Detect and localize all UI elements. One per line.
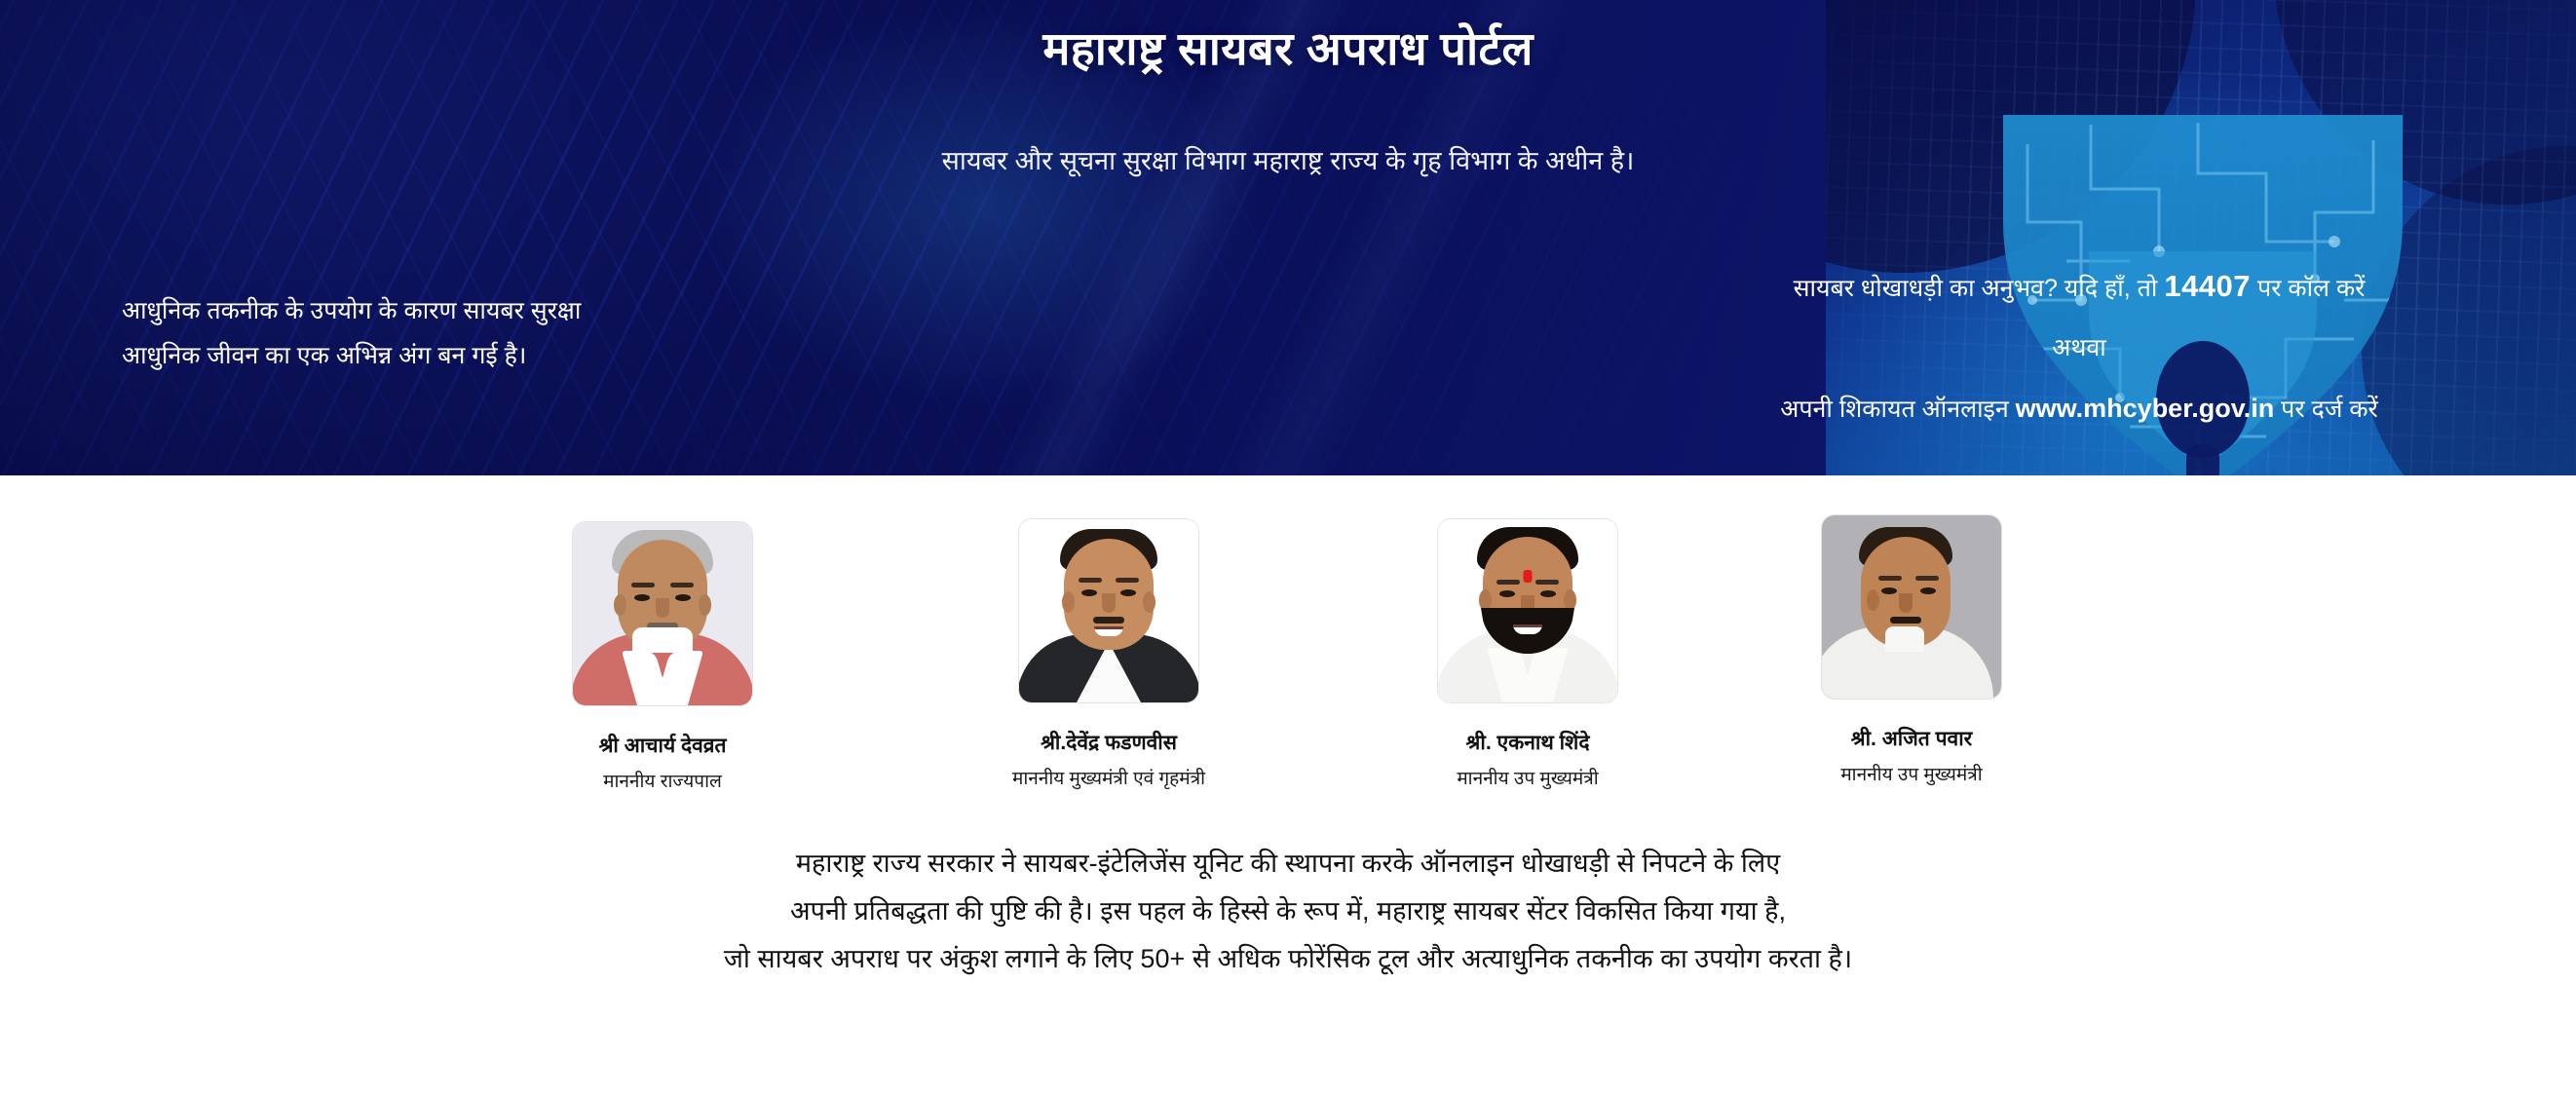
leader-card: श्री. एकनाथ शिंदे माननीय उप मुख्यमंत्री [1372,518,1684,790]
leader-photo [1821,514,2002,700]
leader-card: श्री आचार्य देवव्रत माननीय राज्यपाल [507,521,818,793]
leader-role: माननीय मुख्यमंत्री एवं गृहमंत्री [953,765,1265,790]
hero-subtitle: सायबर और सूचना सुरक्षा विभाग महाराष्ट्र … [0,141,2576,177]
hero-left-line-1: आधुनिक तकनीक के उपयोग के कारण सायबर सुरक… [122,288,862,333]
helpline-suffix: पर कॉल करें [2257,275,2365,302]
page-title: महाराष्ट्र सायबर अपराध पोर्टल [0,16,2576,78]
complaint-suffix: पर दर्ज करें [2281,396,2378,423]
leader-name: श्री. अजित पवार [1756,725,2067,752]
complaint-prefix: अपनी शिकायत ऑनलाइन [1780,396,2008,423]
about-line-1: महाराष्ट्र राज्य सरकार ने सायबर-इंटेलिजे… [0,840,2576,888]
helpline-row: सायबर धोखाधड़ी का अनुभव? यदि हाँ, तो 144… [1621,271,2537,301]
hero-helpline-block: सायबर धोखाधड़ी का अनुभव? यदि हाँ, तो 144… [1621,271,2537,422]
leaders-section: श्री आचार्य देवव्रत माननीय राज्यपाल [0,475,2576,807]
about-line-2: अपनी प्रतिबद्धता की पुष्टि की है। इस पहल… [0,888,2576,935]
leader-card: श्री. अजित पवार माननीय उप मुख्यमंत्री [1756,514,2067,786]
helpline-prefix: सायबर धोखाधड़ी का अनुभव? यदि हाँ, तो [1794,275,2158,302]
about-paragraph: महाराष्ट्र राज्य सरकार ने सायबर-इंटेलिजे… [0,840,2576,983]
page-root: महाराष्ट्र सायबर अपराध पोर्टल सायबर और स… [0,0,2576,1097]
hero-left-line-2: आधुनिक जीवन का एक अभिन्न अंग बन गई है। [122,333,862,378]
leader-photo [1018,518,1199,703]
leader-card: श्री.देवेंद्र फडणवीस माननीय मुख्यमंत्री … [953,518,1265,790]
leader-name: श्री आचार्य देवव्रत [507,732,818,759]
leader-name: श्री.देवेंद्र फडणवीस [953,729,1265,756]
leader-photo [572,521,753,706]
leader-role: माननीय उप मुख्यमंत्री [1372,765,1684,790]
hero-left-text: आधुनिक तकनीक के उपयोग के कारण सायबर सुरक… [122,288,862,379]
hero-banner: महाराष्ट्र सायबर अपराध पोर्टल सायबर और स… [0,0,2576,475]
helpline-or: अथवा [1621,336,2537,360]
leader-photo [1437,518,1618,703]
helpline-number[interactable]: 14407 [2164,269,2251,303]
complaint-row: अपनी शिकायत ऑनलाइन www.mhcyber.gov.in पर… [1621,396,2537,422]
portal-website-link[interactable]: www.mhcyber.gov.in [2016,394,2275,423]
hero-content: महाराष्ट्र सायबर अपराध पोर्टल सायबर और स… [0,0,2576,475]
about-line-3: जो सायबर अपराध पर अंकुश लगाने के लिए 50+… [0,935,2576,983]
leader-role: माननीय राज्यपाल [507,768,818,793]
leader-role: माननीय उप मुख्यमंत्री [1756,761,2067,786]
leader-name: श्री. एकनाथ शिंदे [1372,729,1684,756]
